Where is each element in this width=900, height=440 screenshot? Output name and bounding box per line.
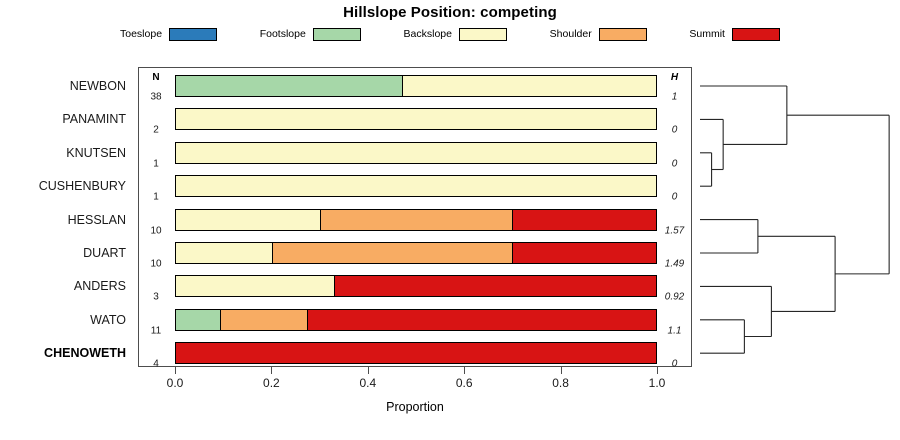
x-tick-label-3: 0.6 [456,376,473,390]
bar-segment-backslope [176,109,656,129]
x-tick-0 [175,367,176,374]
bar-row-cushenbury [175,175,657,197]
bar-segment-shoulder [220,310,307,330]
x-tick-label-0: 0.0 [167,376,184,390]
dendrogram-svg [692,67,900,367]
bar-row-duart [175,242,657,264]
x-tick-1 [271,367,272,374]
bar-segment-summit [176,343,656,363]
bar-segment-summit [512,210,656,230]
x-tick-2 [368,367,369,374]
bar-segment-backslope [176,143,656,163]
bar-row-anders [175,275,657,297]
x-axis: 0.00.20.40.60.81.0 [138,367,692,379]
x-tick-4 [561,367,562,374]
bar-segment-shoulder [320,210,512,230]
bar-segment-footslope [176,76,402,96]
chart-root: Hillslope Position: competing Toeslope F… [0,0,900,440]
x-tick-3 [464,367,465,374]
x-tick-label-2: 0.4 [359,376,376,390]
x-tick-label-4: 0.8 [552,376,569,390]
x-axis-label: Proportion [138,400,692,414]
bar-row-panamint [175,108,657,130]
bar-row-hesslan [175,209,657,231]
bar-segment-shoulder [272,243,512,263]
bar-segment-backslope [176,243,272,263]
bar-row-chenoweth [175,342,657,364]
bar-segment-summit [334,276,656,296]
x-tick-5 [657,367,658,374]
bar-segment-backslope [402,76,656,96]
dendrogram [692,67,900,367]
bar-row-wato [175,309,657,331]
x-tick-label-1: 0.2 [263,376,280,390]
x-tick-label-5: 1.0 [649,376,666,390]
bar-segment-summit [307,310,656,330]
bar-segment-backslope [176,210,320,230]
bar-row-newbon [175,75,657,97]
bar-segment-backslope [176,176,656,196]
bar-segment-footslope [176,310,220,330]
bar-segment-backslope [176,276,334,296]
bar-row-knutsen [175,142,657,164]
bar-segment-summit [512,243,656,263]
